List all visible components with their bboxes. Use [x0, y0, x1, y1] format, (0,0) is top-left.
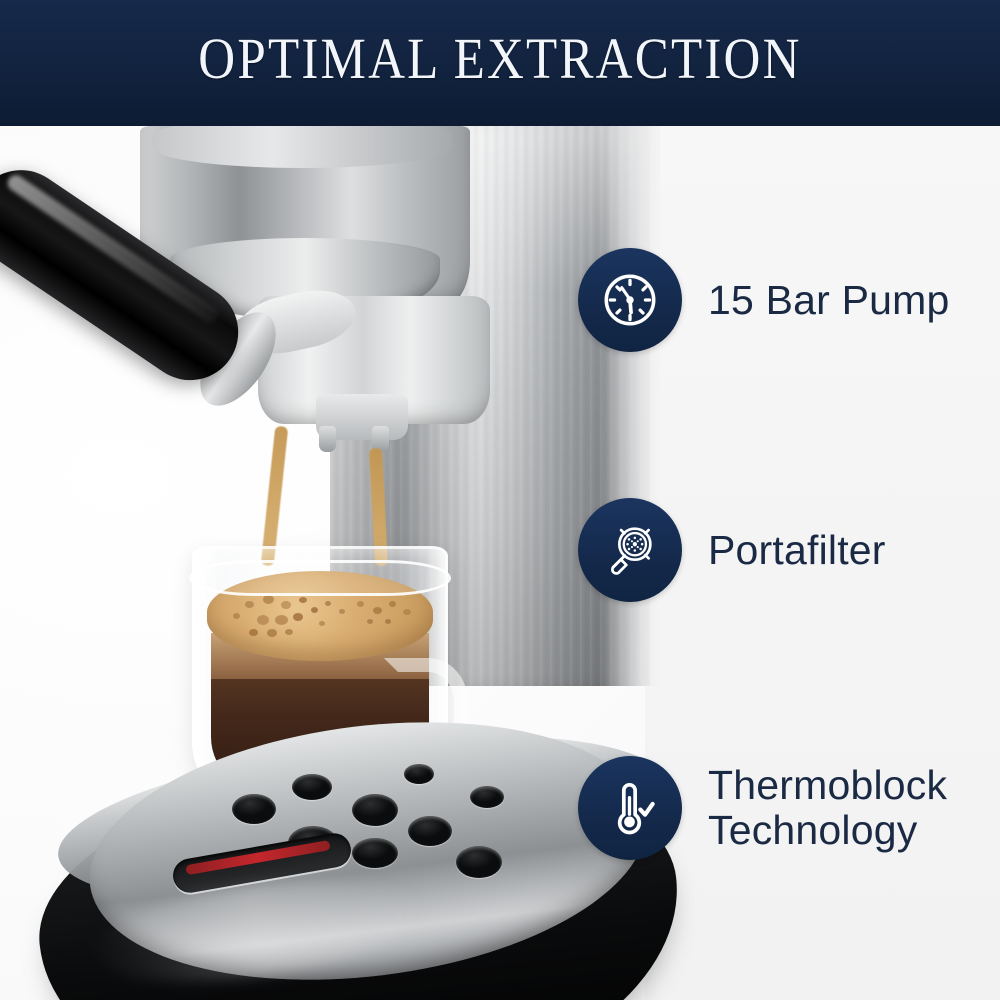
feature-item-portafilter: Portafilter: [578, 498, 886, 602]
drip-tray-hole: [292, 774, 332, 800]
drip-tray-hole: [404, 764, 434, 784]
header-banner: OPTIMAL EXTRACTION: [0, 0, 1000, 126]
machine-boiler-cap: [152, 126, 452, 168]
drip-tray-hole: [352, 794, 398, 826]
feature-label-thermoblock: Thermoblock Technology: [708, 763, 947, 853]
portafilter-icon: [578, 498, 682, 602]
drip-tray-hole: [470, 786, 504, 808]
page-title: OPTIMAL EXTRACTION: [60, 28, 940, 90]
product-photo: CLOSE: [0, 126, 1000, 1000]
drip-tray-hole: [352, 838, 398, 868]
product-feature-graphic: OPTIMAL EXTRACTION CLOSE: [0, 0, 1000, 1000]
glass-rim: [189, 560, 451, 596]
drip-tray-hole: [456, 846, 502, 878]
thermometer-check-icon: [578, 756, 682, 860]
feature-label-portafilter: Portafilter: [708, 528, 886, 573]
feature-item-thermoblock: Thermoblock Technology: [578, 756, 947, 860]
pressure-gauge-icon: [578, 248, 682, 352]
drip-tray-hole: [232, 794, 276, 824]
feature-label-pump: 15 Bar Pump: [708, 278, 950, 323]
machine-spout-left: [319, 426, 336, 452]
feature-item-pump: 15 Bar Pump: [578, 248, 950, 352]
feature-list: 15 Bar Pump: [578, 126, 1000, 1000]
drip-tray-hole: [408, 816, 452, 846]
